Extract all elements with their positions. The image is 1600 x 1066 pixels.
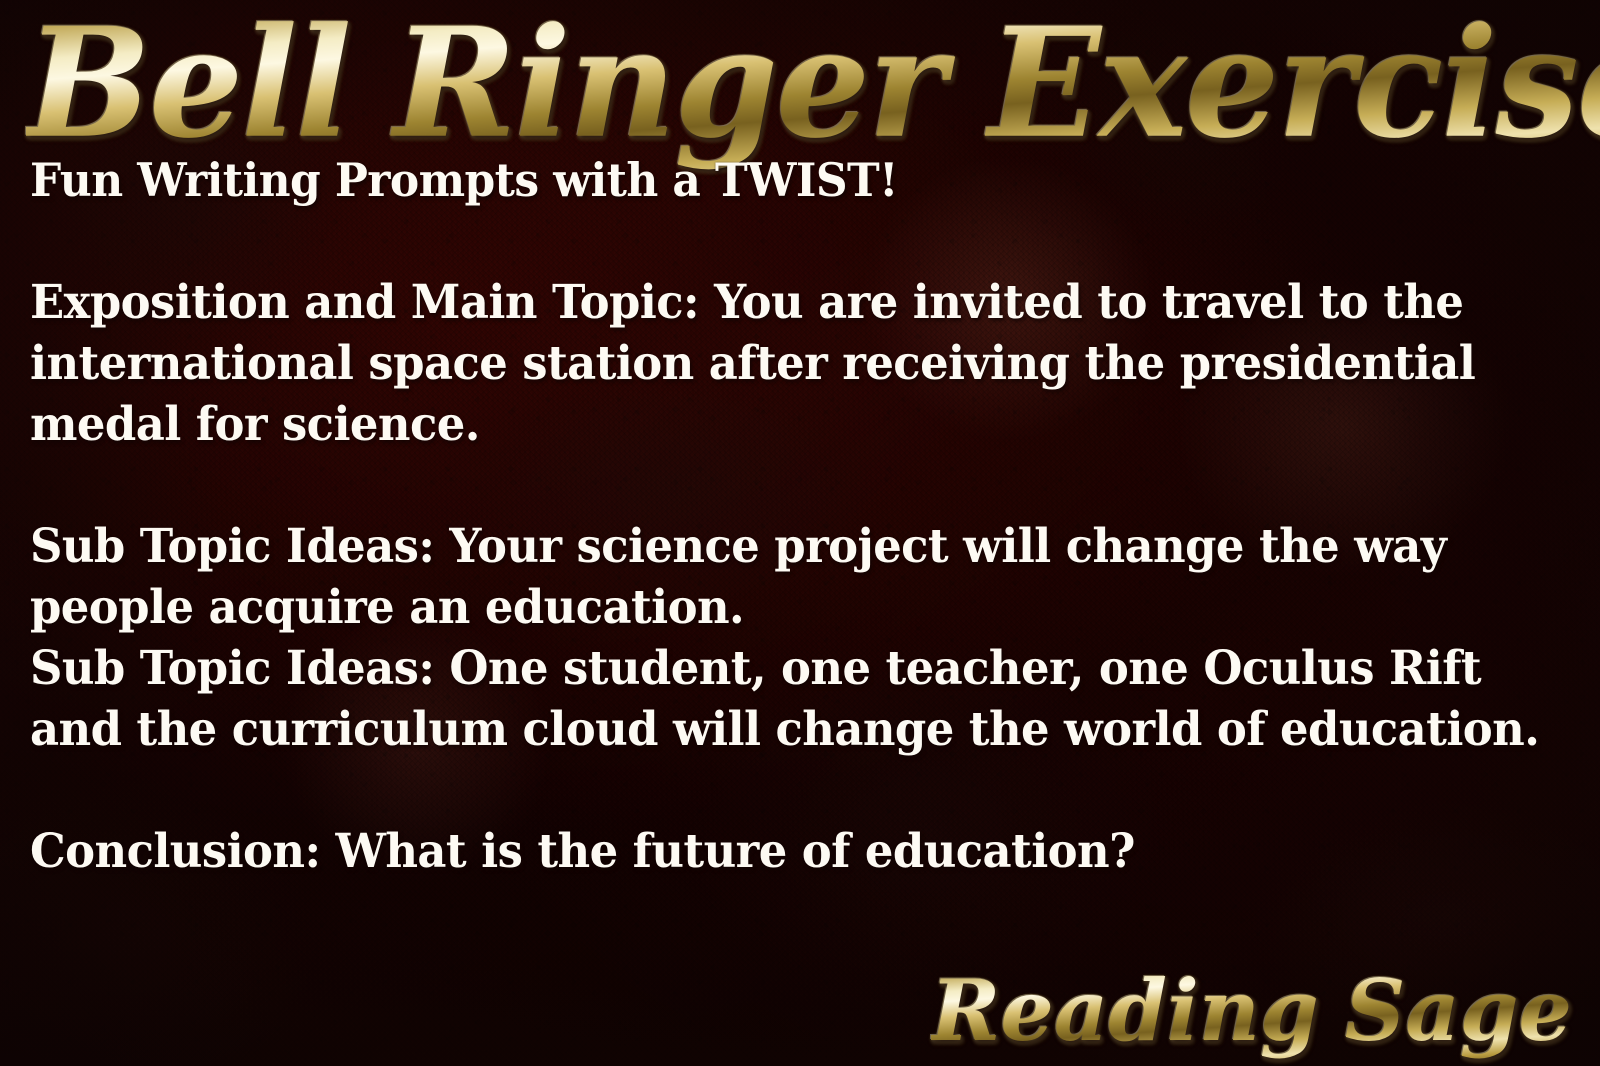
exposition-line-2: international space station after receiv… bbox=[30, 333, 1491, 394]
title-word-ringer: Ringer bbox=[394, 0, 944, 171]
poster-canvas: BellRingerExercises Fun Writing Prompts … bbox=[0, 0, 1600, 1066]
poster-signature: ReadingSage bbox=[931, 961, 1572, 1060]
paragraph-spacer-3 bbox=[30, 760, 1491, 821]
title-word-bell: Bell bbox=[26, 0, 350, 171]
exposition-line-1: Exposition and Main Topic: You are invit… bbox=[30, 272, 1491, 333]
title-word-exercises: Exercises bbox=[988, 0, 1600, 171]
paragraph-spacer-1 bbox=[30, 211, 1491, 272]
signature-word-reading: Reading bbox=[931, 961, 1319, 1060]
subtopic-line-1: Sub Topic Ideas: Your science project wi… bbox=[30, 516, 1491, 577]
poster-title: BellRingerExercises bbox=[26, 0, 1600, 171]
exposition-line-3: medal for science. bbox=[30, 394, 1491, 455]
poster-body: Fun Writing Prompts with a TWIST! Exposi… bbox=[30, 150, 1491, 882]
poster-content: BellRingerExercises Fun Writing Prompts … bbox=[0, 0, 1600, 1066]
subtopic-line-2: people acquire an education. bbox=[30, 577, 1491, 638]
poster-subtitle: Fun Writing Prompts with a TWIST! bbox=[30, 150, 1491, 211]
signature-word-sage: Sage bbox=[1345, 961, 1572, 1060]
subtopic-line-3: Sub Topic Ideas: One student, one teache… bbox=[30, 638, 1491, 699]
subtopic-line-4: and the curriculum cloud will change the… bbox=[30, 699, 1491, 760]
conclusion-line-1: Conclusion: What is the future of educat… bbox=[30, 821, 1491, 882]
paragraph-spacer-2 bbox=[30, 455, 1491, 516]
